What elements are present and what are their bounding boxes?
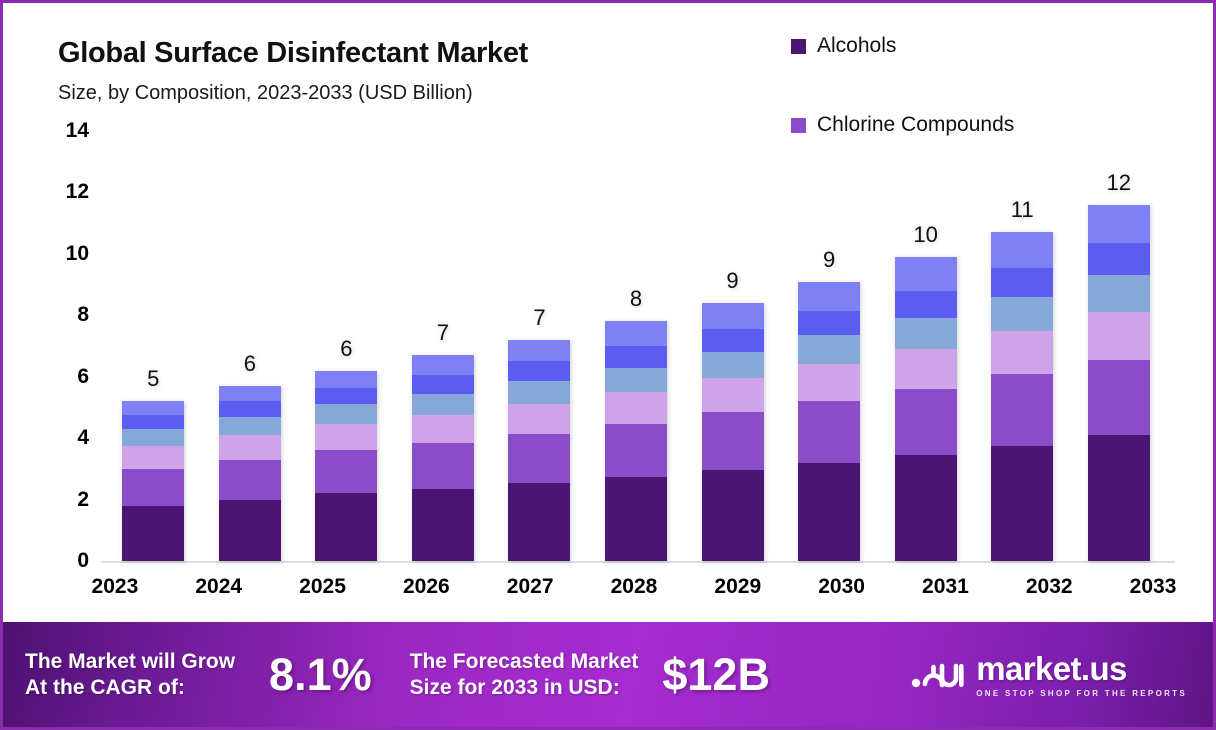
- bar-column-2025[interactable]: 6: [298, 131, 395, 561]
- bar-segment[interactable]: [991, 331, 1053, 374]
- bar-segment[interactable]: [605, 321, 667, 346]
- bar-segment[interactable]: [702, 378, 764, 412]
- bar-segment[interactable]: [315, 404, 377, 424]
- bar-segment[interactable]: [895, 389, 957, 455]
- bar-stack[interactable]: 12: [1088, 205, 1150, 561]
- bar-segment[interactable]: [895, 455, 957, 561]
- bar-segment[interactable]: [895, 349, 957, 389]
- bar-segment[interactable]: [219, 460, 281, 500]
- y-axis-tick-7: 14: [66, 119, 89, 143]
- forecast-value: $12B: [662, 652, 770, 697]
- bar-stack[interactable]: 8: [605, 321, 667, 561]
- cagr-label: The Market will GrowAt the CAGR of:: [25, 649, 235, 700]
- bar-segment[interactable]: [895, 257, 957, 291]
- bar-segment[interactable]: [315, 450, 377, 493]
- bar-stack[interactable]: 6: [315, 371, 377, 561]
- y-axis-tick-3: 6: [77, 365, 89, 389]
- bar-column-2032[interactable]: 11: [974, 131, 1071, 561]
- bar-segment[interactable]: [508, 434, 570, 483]
- bar-segment[interactable]: [219, 500, 281, 561]
- bar-segment[interactable]: [508, 381, 570, 404]
- bar-segment[interactable]: [798, 364, 860, 401]
- bar-segment[interactable]: [122, 469, 184, 506]
- bar-segment[interactable]: [412, 443, 474, 489]
- bar-segment[interactable]: [508, 361, 570, 381]
- page-title: Global Surface Disinfectant Market: [58, 37, 758, 70]
- y-axis-tick-2: 4: [77, 426, 89, 450]
- bar-segment[interactable]: [702, 329, 764, 352]
- x-axis-tick-2024: 2024: [167, 575, 271, 609]
- chart-legend: AlcoholsChlorine Compounds: [791, 31, 1121, 140]
- bar-value-label: 6: [340, 338, 352, 360]
- bar-segment[interactable]: [1088, 435, 1150, 561]
- bar-value-label: 12: [1106, 172, 1130, 194]
- bar-column-2027[interactable]: 7: [491, 131, 588, 561]
- bar-segment[interactable]: [122, 506, 184, 561]
- bar-segment[interactable]: [798, 401, 860, 462]
- bar-stack[interactable]: 6: [219, 386, 281, 561]
- bar-segment[interactable]: [315, 493, 377, 561]
- bar-segment[interactable]: [412, 355, 474, 375]
- legend-item-label: Alcohols: [817, 34, 896, 58]
- bar-value-label: 8: [630, 288, 642, 310]
- bar-stack[interactable]: 5: [122, 401, 184, 561]
- bar-segment[interactable]: [315, 388, 377, 405]
- bar-column-2024[interactable]: 6: [202, 131, 299, 561]
- bar-stack[interactable]: 11: [991, 232, 1053, 561]
- forecast-group: The Forecasted MarketSize for 2033 in US…: [410, 649, 770, 700]
- bar-stack[interactable]: 10: [895, 257, 957, 561]
- legend-swatch-icon: [791, 39, 806, 54]
- bar-segment[interactable]: [508, 340, 570, 362]
- bar-segment[interactable]: [122, 401, 184, 415]
- bar-segment[interactable]: [122, 429, 184, 446]
- bar-stack[interactable]: 9: [798, 282, 860, 561]
- bar-column-2029[interactable]: 9: [684, 131, 781, 561]
- bar-stack[interactable]: 7: [508, 340, 570, 561]
- infographic-page: Global Surface Disinfectant Market Size,…: [0, 0, 1216, 730]
- bar-series-container: 56677899101112: [105, 131, 1167, 561]
- bar-column-2023[interactable]: 5: [105, 131, 202, 561]
- bar-value-label: 5: [147, 368, 159, 390]
- bar-segment[interactable]: [412, 375, 474, 393]
- bar-segment[interactable]: [1088, 360, 1150, 435]
- chart-subtitle: Size, by Composition, 2023-2033 (USD Bil…: [58, 82, 758, 105]
- x-axis-tick-2023: 2023: [63, 575, 167, 609]
- bar-value-label: 11: [1011, 199, 1034, 221]
- bar-segment[interactable]: [605, 392, 667, 424]
- bar-segment[interactable]: [605, 424, 667, 476]
- bar-segment[interactable]: [1088, 312, 1150, 360]
- bar-value-label: 9: [823, 249, 835, 271]
- y-axis-tick-0: 0: [77, 549, 89, 573]
- bar-segment[interactable]: [798, 311, 860, 336]
- bar-segment[interactable]: [798, 282, 860, 311]
- chart-header: Global Surface Disinfectant Market Size,…: [58, 37, 758, 105]
- market-us-mark-icon: [911, 653, 965, 696]
- y-axis-tick-4: 8: [77, 303, 89, 327]
- bar-segment[interactable]: [895, 318, 957, 349]
- bar-stack[interactable]: 7: [412, 355, 474, 561]
- plot-area: 02468101214 56677899101112: [45, 131, 1175, 563]
- bar-column-2030[interactable]: 9: [781, 131, 878, 561]
- bar-column-2028[interactable]: 8: [588, 131, 685, 561]
- bar-segment[interactable]: [702, 412, 764, 470]
- cagr-group: The Market will GrowAt the CAGR of: 8.1%: [25, 649, 372, 700]
- bar-column-2033[interactable]: 12: [1070, 131, 1167, 561]
- bar-segment[interactable]: [219, 417, 281, 435]
- x-axis-line: [101, 561, 1175, 563]
- bar-segment[interactable]: [605, 368, 667, 393]
- bar-value-label: 10: [913, 224, 937, 246]
- logo-tagline: ONE STOP SHOP FOR THE REPORTS: [976, 689, 1187, 698]
- x-axis-tick-2028: 2028: [582, 575, 686, 609]
- x-axis: 2023202420252026202720282029203020312032…: [63, 575, 1205, 609]
- bar-value-label: 7: [533, 307, 545, 329]
- bar-segment[interactable]: [412, 489, 474, 561]
- bar-segment[interactable]: [122, 446, 184, 469]
- logo-wordmark: market.us: [976, 652, 1187, 685]
- bar-segment[interactable]: [219, 435, 281, 460]
- y-axis-tick-5: 10: [66, 242, 89, 266]
- x-axis-tick-2029: 2029: [686, 575, 790, 609]
- x-axis-tick-2031: 2031: [894, 575, 998, 609]
- bar-segment[interactable]: [991, 446, 1053, 561]
- y-axis-tick-6: 12: [66, 180, 89, 204]
- y-axis-tick-1: 2: [77, 488, 89, 512]
- bar-segment[interactable]: [702, 303, 764, 329]
- forecast-label: The Forecasted MarketSize for 2033 in US…: [410, 649, 639, 700]
- market-us-logo[interactable]: market.us ONE STOP SHOP FOR THE REPORTS: [911, 652, 1199, 698]
- y-axis: 02468101214: [45, 131, 99, 563]
- x-axis-tick-2027: 2027: [478, 575, 582, 609]
- bar-segment[interactable]: [798, 463, 860, 561]
- bar-column-2031[interactable]: 10: [877, 131, 974, 561]
- logo-text: market.us ONE STOP SHOP FOR THE REPORTS: [976, 652, 1187, 698]
- bar-segment[interactable]: [508, 483, 570, 561]
- bar-segment[interactable]: [1088, 205, 1150, 243]
- bar-segment[interactable]: [412, 394, 474, 416]
- bar-segment[interactable]: [508, 404, 570, 433]
- summary-banner: The Market will GrowAt the CAGR of: 8.1%…: [3, 622, 1213, 727]
- legend-item-0[interactable]: Alcohols: [791, 31, 1121, 61]
- bar-value-label: 6: [244, 353, 256, 375]
- cagr-value: 8.1%: [269, 652, 372, 697]
- bar-segment[interactable]: [315, 424, 377, 450]
- bar-segment[interactable]: [702, 352, 764, 378]
- bar-segment[interactable]: [315, 371, 377, 388]
- bar-column-2026[interactable]: 7: [395, 131, 492, 561]
- bar-segment[interactable]: [895, 291, 957, 319]
- bar-segment[interactable]: [605, 477, 667, 561]
- bar-segment[interactable]: [412, 415, 474, 443]
- bar-segment[interactable]: [798, 335, 860, 364]
- x-axis-tick-2030: 2030: [790, 575, 894, 609]
- bar-segment[interactable]: [991, 268, 1053, 297]
- bar-value-label: 7: [437, 322, 449, 344]
- bar-segment[interactable]: [605, 346, 667, 368]
- bar-value-label: 9: [726, 270, 738, 292]
- x-axis-tick-2026: 2026: [374, 575, 478, 609]
- x-axis-tick-2033: 2033: [1101, 575, 1205, 609]
- bar-segment[interactable]: [991, 297, 1053, 331]
- bar-segment[interactable]: [1088, 275, 1150, 312]
- bar-segment[interactable]: [991, 374, 1053, 446]
- x-axis-tick-2032: 2032: [997, 575, 1101, 609]
- bar-segment[interactable]: [122, 415, 184, 429]
- bar-segment[interactable]: [991, 232, 1053, 267]
- bar-segment[interactable]: [219, 386, 281, 401]
- bar-segment[interactable]: [1088, 243, 1150, 275]
- bar-segment[interactable]: [219, 401, 281, 416]
- x-axis-tick-2025: 2025: [271, 575, 375, 609]
- bar-segment[interactable]: [702, 470, 764, 561]
- bar-stack[interactable]: 9: [702, 303, 764, 561]
